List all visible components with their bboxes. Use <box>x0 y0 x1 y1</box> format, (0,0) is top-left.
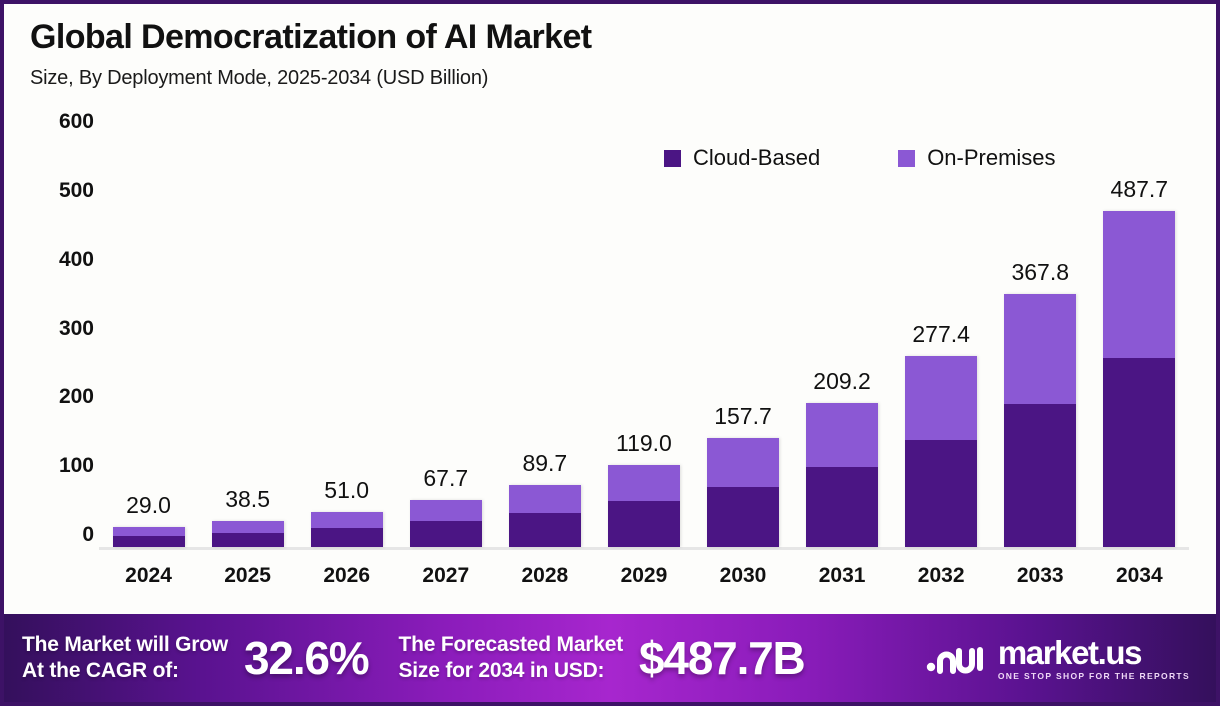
y-axis: 0100200300400500600 <box>26 122 94 547</box>
bar-segment-on-premises[interactable] <box>311 512 383 528</box>
bar-column[interactable]: 89.7 <box>496 134 594 547</box>
x-axis-tick-label: 2028 <box>496 564 594 588</box>
x-axis-tick-label: 2034 <box>1090 564 1188 588</box>
brand-name: market.us <box>998 636 1190 669</box>
x-axis-tick-label: 2031 <box>793 564 891 588</box>
stacked-bar[interactable] <box>1103 211 1175 547</box>
x-axis-tick-label: 2032 <box>892 564 990 588</box>
x-axis-tick-label: 2026 <box>298 564 396 588</box>
stacked-bar[interactable] <box>806 403 878 547</box>
bar-segment-cloud-based[interactable] <box>806 467 878 547</box>
x-axis-line <box>99 547 1189 550</box>
x-axis-tick-label: 2029 <box>595 564 693 588</box>
cagr-caption-line1: The Market will Grow <box>22 632 228 658</box>
stacked-bar[interactable] <box>410 500 482 547</box>
brand-text: market.us ONE STOP SHOP FOR THE REPORTS <box>998 636 1190 681</box>
stacked-bar[interactable] <box>311 512 383 547</box>
bar-segment-on-premises[interactable] <box>410 500 482 521</box>
cagr-caption-line2: At the CAGR of: <box>22 658 228 684</box>
forecast-caption-line1: The Forecasted Market <box>398 632 623 658</box>
chart-subtitle: Size, By Deployment Mode, 2025-2034 (USD… <box>30 67 592 90</box>
stacked-bar[interactable] <box>905 356 977 547</box>
stacked-bar[interactable] <box>212 521 284 548</box>
bar-segment-cloud-based[interactable] <box>113 536 185 547</box>
page-title: Global Democratization of AI Market <box>30 18 592 57</box>
y-axis-tick-label: 0 <box>82 523 94 547</box>
y-axis-tick-label: 600 <box>59 110 94 134</box>
bar-segment-cloud-based[interactable] <box>707 487 779 547</box>
bar-column[interactable]: 487.7 <box>1090 134 1188 547</box>
stacked-bar[interactable] <box>608 465 680 547</box>
footer-banner: The Market will Grow At the CAGR of: 32.… <box>4 614 1216 702</box>
bar-column[interactable]: 119.0 <box>595 134 693 547</box>
brand-logo[interactable]: market.us ONE STOP SHOP FOR THE REPORTS <box>926 636 1190 681</box>
bar-segment-on-premises[interactable] <box>608 465 680 501</box>
bar-column[interactable]: 67.7 <box>397 134 495 547</box>
bar-segment-on-premises[interactable] <box>113 527 185 536</box>
bar-column[interactable]: 277.4 <box>892 134 990 547</box>
forecast-value: $487.7B <box>639 631 805 685</box>
x-axis-tick-label: 2024 <box>100 564 198 588</box>
bar-column[interactable]: 157.7 <box>694 134 792 547</box>
forecast-caption-line2: Size for 2034 in USD: <box>398 658 623 684</box>
stacked-bar[interactable] <box>509 485 581 547</box>
bar-segment-on-premises[interactable] <box>707 438 779 486</box>
bar-segment-cloud-based[interactable] <box>1004 404 1076 547</box>
forecast-caption: The Forecasted Market Size for 2034 in U… <box>398 632 623 683</box>
x-axis-tick-label: 2033 <box>991 564 1089 588</box>
bar-segment-cloud-based[interactable] <box>509 513 581 547</box>
x-axis-tick-label: 2027 <box>397 564 495 588</box>
cagr-caption: The Market will Grow At the CAGR of: <box>22 632 228 683</box>
bar-segment-cloud-based[interactable] <box>311 528 383 547</box>
bar-segment-on-premises[interactable] <box>212 521 284 533</box>
chart-header: Global Democratization of AI Market Size… <box>30 18 592 90</box>
bar-segment-on-premises[interactable] <box>1103 211 1175 358</box>
cagr-value: 32.6% <box>244 631 368 685</box>
stacked-bar[interactable] <box>113 527 185 547</box>
infographic-card: Global Democratization of AI Market Size… <box>0 0 1220 706</box>
bar-segment-cloud-based[interactable] <box>608 501 680 547</box>
y-axis-tick-label: 300 <box>59 317 94 341</box>
y-axis-tick-label: 200 <box>59 385 94 409</box>
bar-segment-cloud-based[interactable] <box>1103 358 1175 547</box>
bar-segment-on-premises[interactable] <box>806 403 878 467</box>
bar-segment-cloud-based[interactable] <box>212 533 284 547</box>
stacked-bar[interactable] <box>707 438 779 547</box>
bar-segment-on-premises[interactable] <box>509 485 581 512</box>
market-us-logo-icon <box>926 637 988 679</box>
brand-tagline: ONE STOP SHOP FOR THE REPORTS <box>998 672 1190 681</box>
x-axis: 2024202520262027202820292030203120322033… <box>99 564 1189 588</box>
bar-series-group: 29.038.551.067.789.7119.0157.7209.2277.4… <box>99 134 1189 547</box>
bar-segment-cloud-based[interactable] <box>905 440 977 547</box>
y-axis-tick-label: 500 <box>59 179 94 203</box>
stacked-bar[interactable] <box>1004 294 1076 547</box>
bar-segment-on-premises[interactable] <box>1004 294 1076 404</box>
x-axis-tick-label: 2025 <box>199 564 297 588</box>
y-axis-tick-label: 400 <box>59 248 94 272</box>
bar-value-label: 487.7 <box>1059 176 1219 203</box>
bar-segment-cloud-based[interactable] <box>410 521 482 547</box>
x-axis-tick-label: 2030 <box>694 564 792 588</box>
y-axis-tick-label: 100 <box>59 454 94 478</box>
bar-segment-on-premises[interactable] <box>905 356 977 440</box>
